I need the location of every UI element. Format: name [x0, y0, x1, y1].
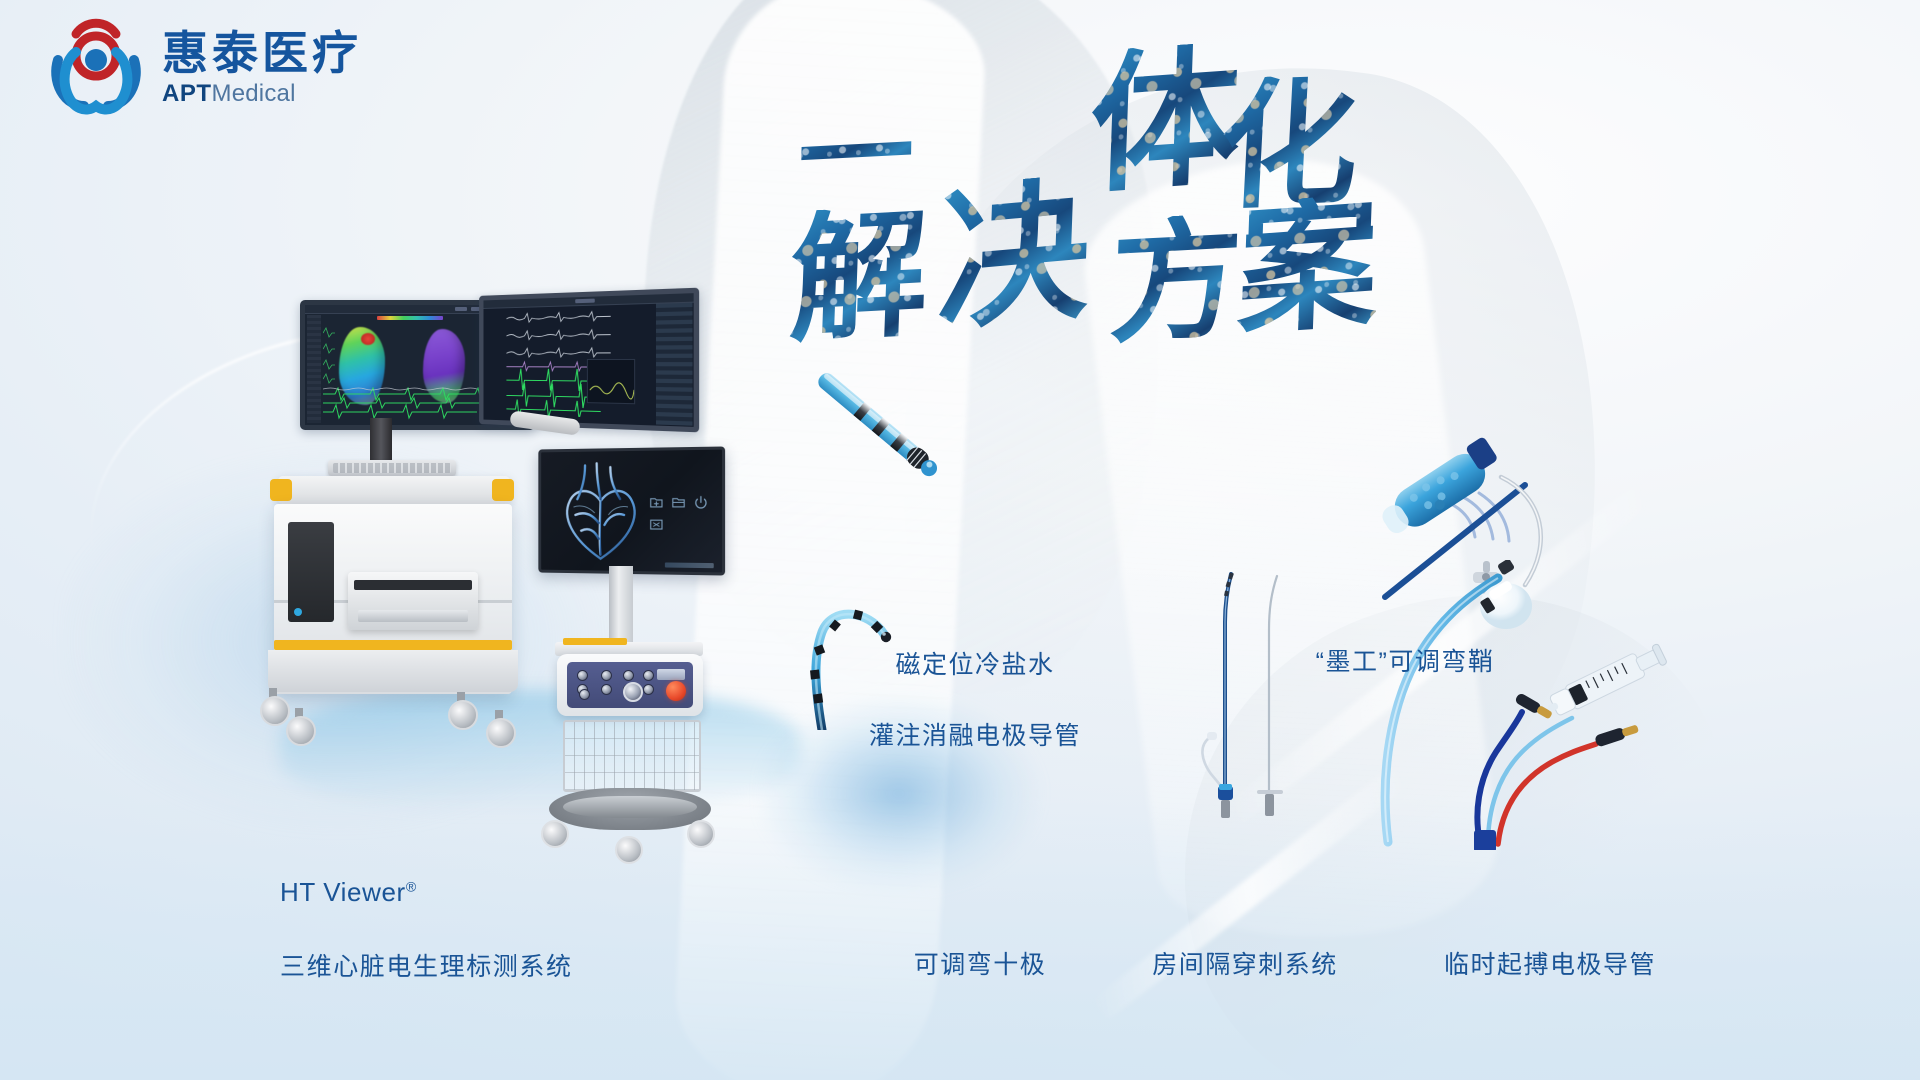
emergency-stop-button[interactable]	[666, 681, 686, 701]
connector-port[interactable]	[601, 670, 612, 681]
brand-name-en-bold: APT	[162, 80, 212, 107]
headline-char-4: 解	[788, 204, 931, 350]
ht-viewer-name-en: HT Viewer®	[280, 874, 573, 911]
power-led-icon	[294, 608, 302, 616]
label-line-1: 磁定位冷盐水	[845, 648, 1105, 684]
heart-display-screen	[538, 446, 725, 575]
activation-map-colorbar	[377, 316, 443, 320]
trademark-symbol: ®	[406, 878, 417, 894]
headline-calligraphy: 一 体 化 解 决 方 案	[790, 40, 1350, 340]
new-study-folder-icon[interactable]	[649, 495, 664, 510]
ht-viewer-name-cn: 三维心脏电生理标测系统	[280, 950, 573, 986]
label-pacing-catheter: 临时起搏电极导管	[1410, 948, 1690, 984]
shelf-accent-stripe	[563, 638, 627, 645]
registration-icon[interactable]	[649, 517, 664, 532]
cart-handle-right[interactable]	[492, 479, 514, 501]
pc-tower	[288, 522, 334, 622]
monitor-right-ecg	[479, 288, 699, 433]
display-cart-caster	[615, 830, 639, 860]
display-brand-strip	[665, 562, 714, 568]
accessory-basket	[563, 720, 701, 792]
poster-canvas: 惠泰医疗 APTMedical 一 体 化 解 决 方 案	[0, 0, 1920, 1080]
keyboard[interactable]	[328, 460, 456, 476]
cart-caster	[286, 708, 312, 742]
rf-generator-panel	[567, 662, 693, 708]
display-stand-column	[609, 566, 633, 646]
power-icon[interactable]	[693, 495, 708, 510]
irrigated-ablation-catheter	[790, 352, 970, 502]
display-icon-row	[649, 495, 712, 533]
rf-generator-unit	[557, 654, 703, 716]
label-irrigated-catheter: 磁定位冷盐水 灌注消融电极导管	[845, 612, 1105, 790]
brand-name-en: APTMedical	[162, 81, 362, 107]
connector-port[interactable]	[577, 670, 588, 681]
brand-name-en-light: Medical	[212, 80, 296, 107]
headline-char-7: 案	[1236, 193, 1381, 343]
monitor-left-mini-traces	[323, 323, 335, 385]
cart-caster	[260, 688, 286, 722]
main-output-port[interactable]	[623, 682, 643, 702]
cart-caster	[448, 692, 474, 726]
cart-handle-left[interactable]	[270, 479, 292, 501]
monitor-right-inset-window	[587, 359, 635, 404]
balloon-tipped-pacing-catheter-with-syringe	[1370, 560, 1680, 850]
monitor-right-channel-table	[656, 303, 693, 426]
cart-worktop	[278, 476, 510, 504]
printer-paper-tray	[354, 580, 472, 590]
label-ht-viewer: HT Viewer® 三维心脏电生理标测系统	[280, 838, 573, 1021]
cart-base	[268, 650, 518, 692]
brand-logo: 惠泰医疗 APTMedical	[46, 18, 362, 118]
ground-port[interactable]	[579, 689, 590, 700]
brand-name-cn: 惠泰医疗	[162, 29, 362, 77]
printer-output-slot	[358, 610, 468, 622]
label-transseptal-system: 房间隔穿刺系统	[1125, 948, 1365, 984]
connector-port[interactable]	[601, 684, 612, 695]
pacing-lead-connector-block	[1474, 830, 1496, 850]
monitor-left-side-panel	[307, 315, 321, 423]
display-cart-caster	[687, 814, 711, 844]
xray-heart-illustration	[553, 457, 650, 566]
headline-char-5: 决	[936, 173, 1093, 339]
apt-medical-emblem-icon	[46, 18, 146, 118]
connector-port[interactable]	[643, 684, 654, 695]
headline-char-6: 方	[1108, 212, 1244, 351]
transseptal-puncture-needle-and-sheath	[1185, 560, 1315, 820]
heart-display-cart	[535, 448, 735, 868]
cart-caster	[486, 710, 512, 744]
rf-status-display	[657, 669, 685, 680]
connector-port[interactable]	[623, 670, 634, 681]
monitor-stand-column	[370, 418, 392, 466]
cart-accent-stripe	[274, 640, 512, 650]
label-line-2: 灌注消融电极导管	[845, 719, 1105, 755]
label-steerable-sheath: “墨工”可调弯鞘	[1285, 645, 1525, 681]
brand-wordmark: 惠泰医疗 APTMedical	[162, 29, 362, 108]
label-decapolar-catheter: 可调弯十极	[880, 948, 1080, 984]
open-folder-icon[interactable]	[671, 495, 686, 510]
connector-port[interactable]	[643, 670, 654, 681]
report-printer	[348, 572, 478, 630]
